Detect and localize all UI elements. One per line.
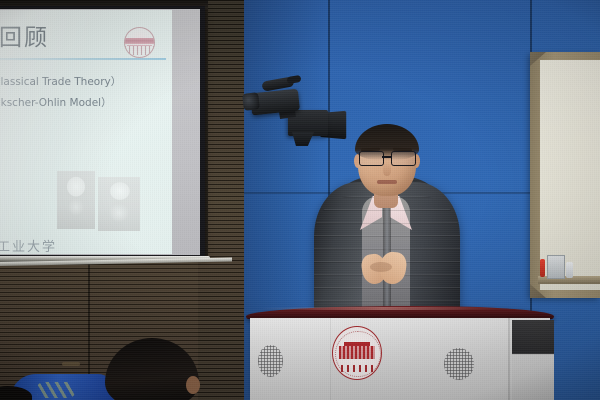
door-handle[interactable] <box>62 362 80 366</box>
university-seal-logo <box>124 27 155 58</box>
slide-title-rule <box>0 58 166 60</box>
slide-watermark: 化工业大学 <box>0 236 57 254</box>
podium-panel-seam <box>330 318 331 400</box>
podium-front-panel <box>250 318 550 400</box>
podium-side-panel <box>512 320 554 400</box>
slide-bullet-2: （Heckscher-Ohlin Model） <box>0 95 112 110</box>
white-marker[interactable] <box>566 262 573 278</box>
camera-lens-icon <box>242 92 260 111</box>
lens-left <box>359 151 384 166</box>
slide-bullet-1: Neo-classical Trade Theory） <box>0 74 121 89</box>
lens-right <box>391 151 416 166</box>
speaker-grille-right <box>444 348 474 380</box>
crest-base <box>341 365 374 371</box>
seal-ticks <box>125 46 154 55</box>
lecture-hall-photo: 节回顾 Neo-classical Trade Theory） （Hecksch… <box>0 0 600 400</box>
student-jacket-pattern <box>36 382 76 398</box>
portrait-ohlin <box>98 177 140 231</box>
portrait-heckscher <box>57 171 95 229</box>
presenter-mouth <box>377 180 397 184</box>
whiteboard-eraser[interactable] <box>547 255 565 279</box>
glasses-bridge <box>382 156 391 158</box>
student-ear <box>186 376 200 394</box>
red-marker[interactable] <box>540 259 545 277</box>
podium-edge <box>508 318 510 400</box>
university-crest-emblem <box>332 326 382 380</box>
speaker-grille-left <box>258 345 283 377</box>
seal-band <box>125 38 154 44</box>
slide-title: 节回顾 <box>0 18 49 52</box>
presenter-nose <box>383 163 391 176</box>
hands-shadow <box>370 262 392 272</box>
crest-building <box>339 346 375 360</box>
podium-top-highlight <box>258 307 508 310</box>
projected-slide: 节回顾 Neo-classical Trade Theory） （Hecksch… <box>0 10 172 254</box>
